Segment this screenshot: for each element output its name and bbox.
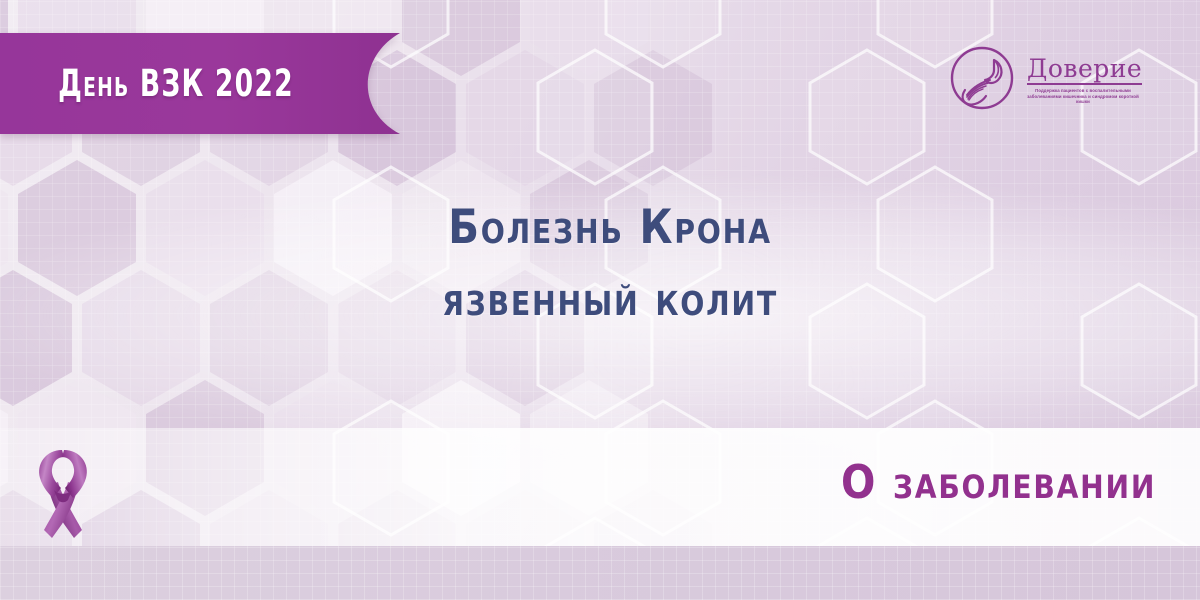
day-badge-label: День ВЗК 2022 xyxy=(35,33,317,134)
headline-line-1: Болезнь Крона xyxy=(343,192,876,264)
bottom-mauve-band xyxy=(0,546,1200,600)
about-disease-cta[interactable]: О заболевании xyxy=(841,455,1156,509)
logo-tagline: Поддержка пациентов с воспалительными за… xyxy=(1027,88,1139,105)
logo-wordmark: Доверие xyxy=(1027,55,1142,82)
ibd-day-banner: День ВЗК 2022 Болезнь Крона язвенный кол… xyxy=(0,0,1200,600)
hand-holding-dove-circle-emblem xyxy=(946,42,1018,114)
logo-underline xyxy=(1027,83,1142,85)
headline-line-2: язвенный колит xyxy=(343,264,876,336)
doverie-logo[interactable]: Доверие Поддержка пациентов с воспалител… xyxy=(946,36,1158,120)
logo-text-block: Доверие Поддержка пациентов с воспалител… xyxy=(1027,51,1142,105)
page-title: Болезнь Крона язвенный колит xyxy=(300,192,920,336)
awareness-ribbon-icon xyxy=(24,438,100,542)
